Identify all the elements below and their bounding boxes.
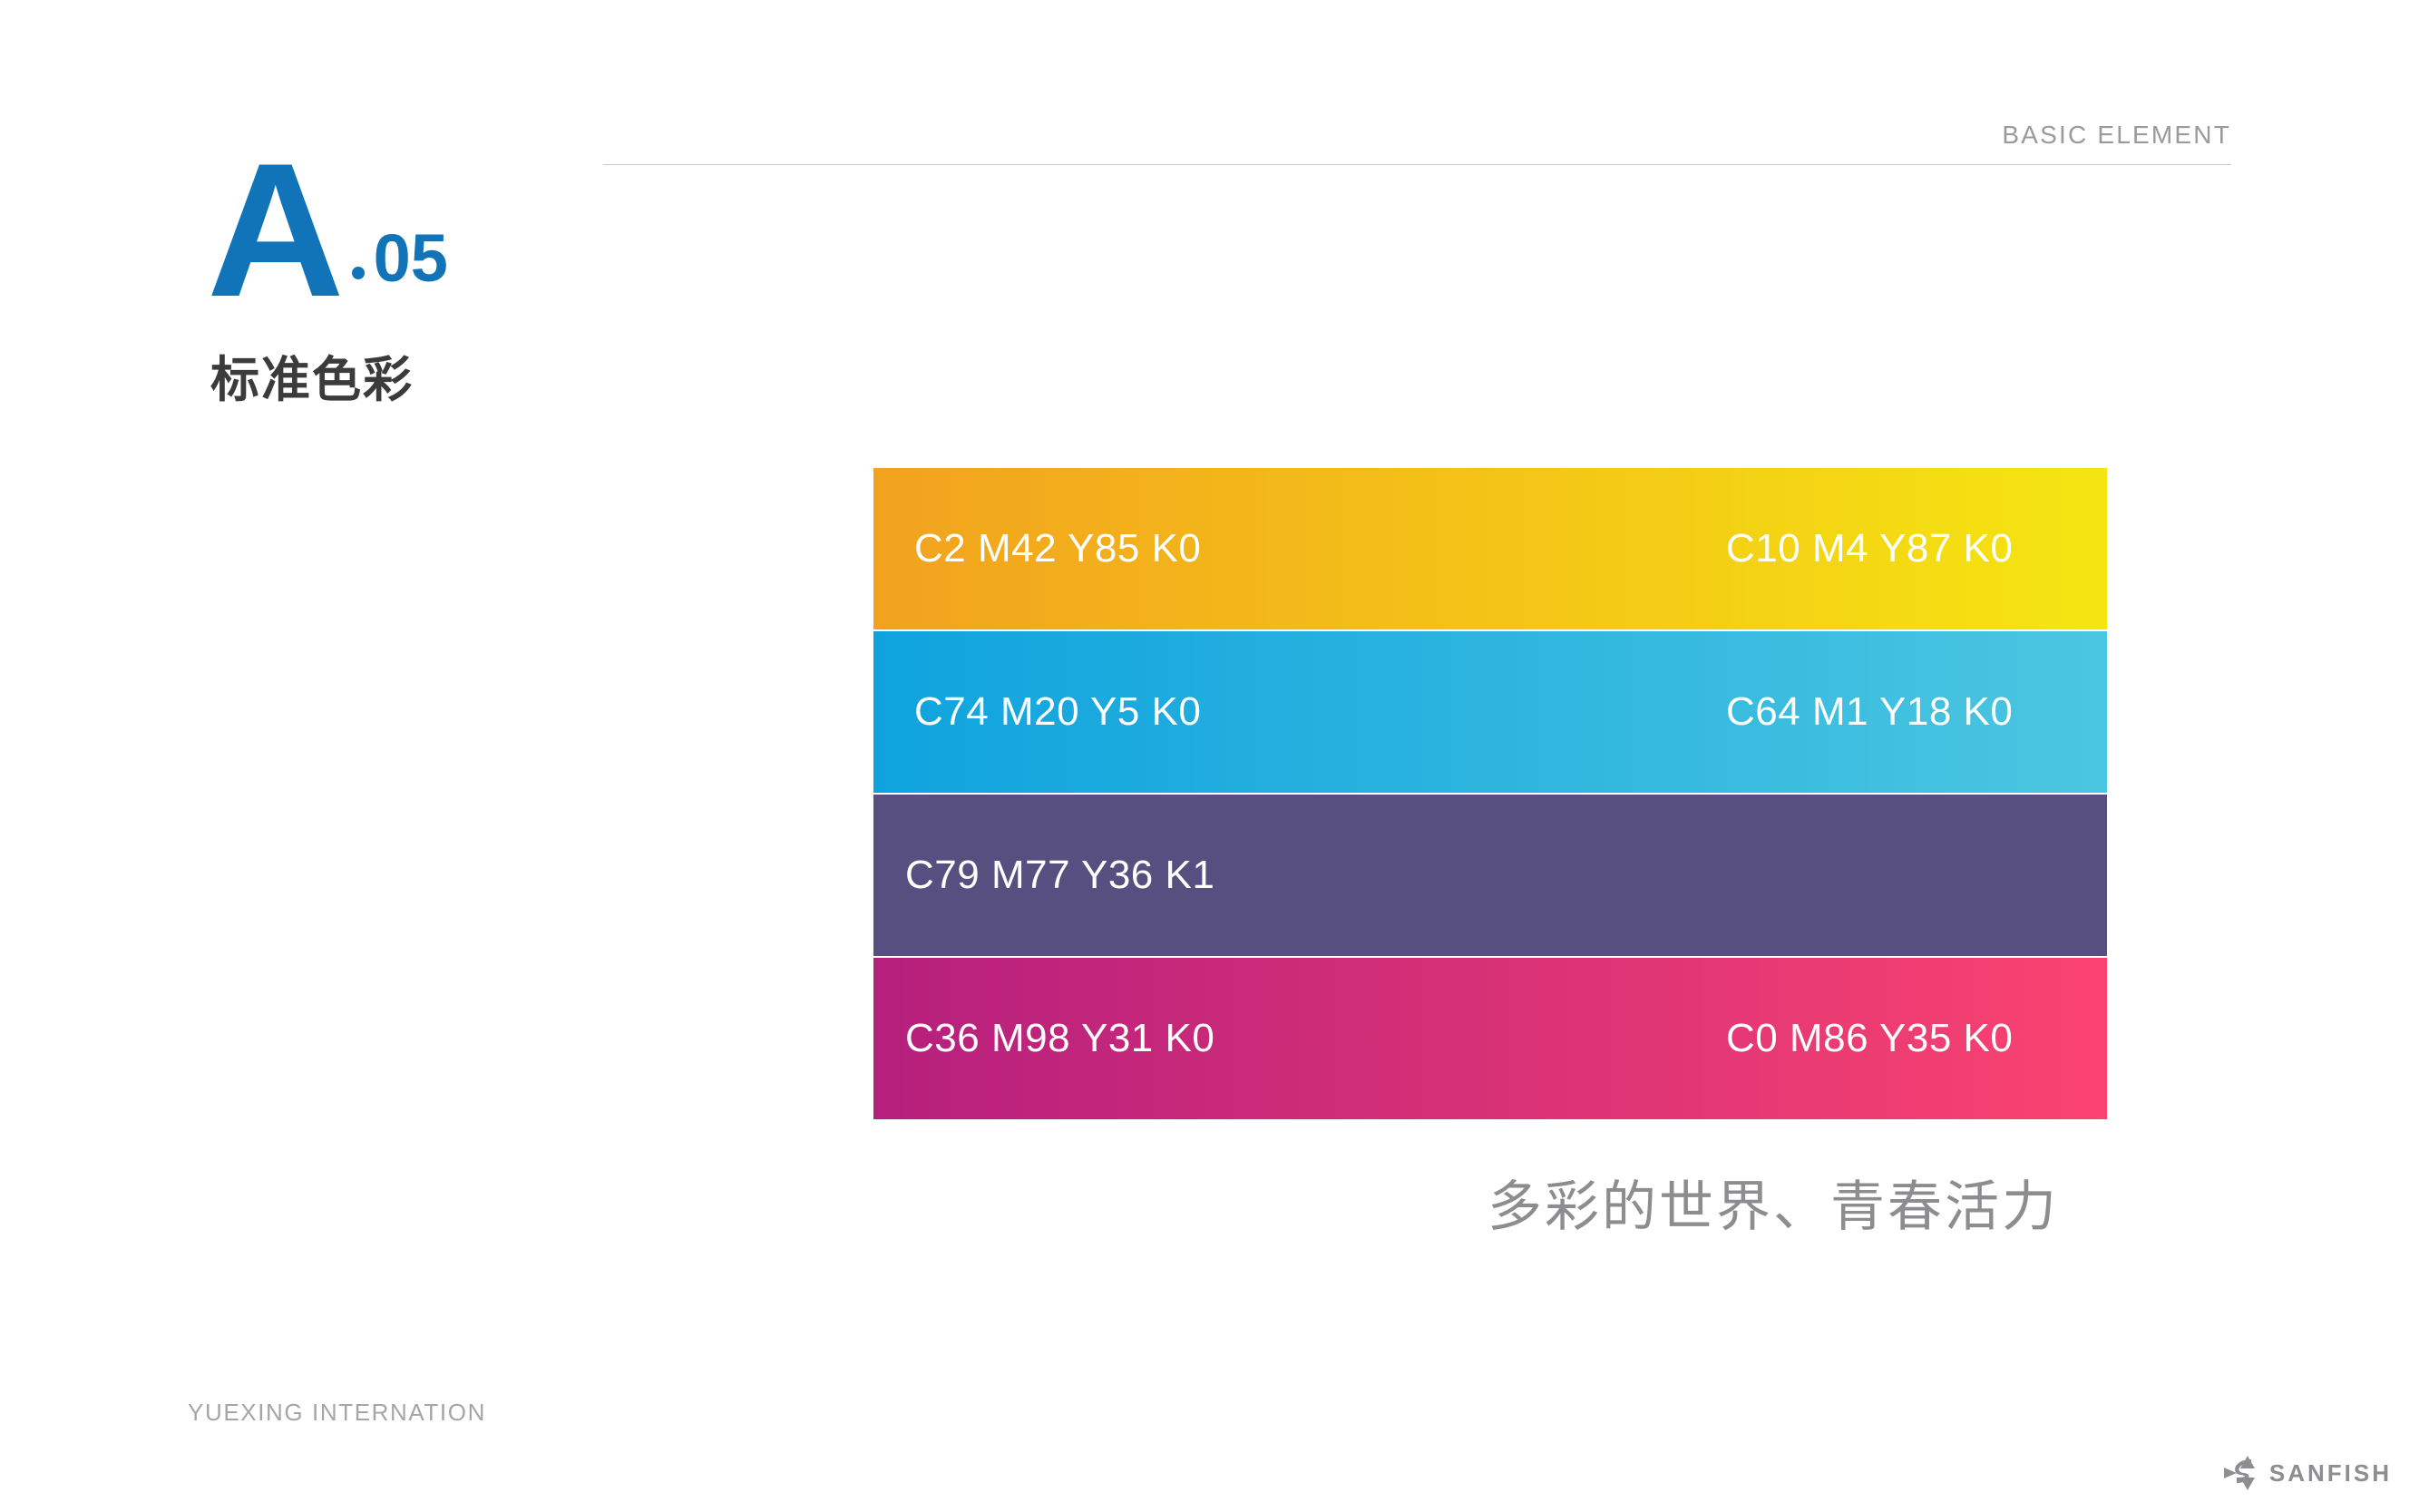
section-number: 05 [374,225,448,292]
swatch-1-left-label: C2 M42 Y85 K0 [914,526,1201,571]
swatch-row-4: C36 M98 Y31 K0 C0 M86 Y35 K0 [873,958,2107,1119]
swatch-1-right-label: C10 M4 Y87 K0 [1726,526,2013,571]
fish-logo-icon [2224,1454,2266,1492]
swatch-row-3: C79 M77 Y36 K1 [873,795,2107,956]
color-swatch-stack: C2 M42 Y85 K0 C10 M4 Y87 K0 C74 M20 Y5 K… [873,468,2107,1121]
palette-tagline: 多彩的世界、青春活力 [1487,1163,2059,1242]
swatch-2-right-label: C64 M1 Y18 K0 [1726,689,2013,735]
swatch-4-left-label: C36 M98 Y31 K0 [905,1016,1214,1061]
swatch-2-left-label: C74 M20 Y5 K0 [914,689,1201,735]
swatch-row-2: C74 M20 Y5 K0 C64 M1 Y18 K0 [873,631,2107,793]
swatch-3-left-label: C79 M77 Y36 K1 [905,853,1214,898]
section-marker: A 05 标准色彩 [207,127,597,399]
swatch-row-1: C2 M42 Y85 K0 C10 M4 Y87 K0 [873,468,2107,629]
logo-wordmark: SANFISH [2269,1459,2392,1488]
section-title-cn: 标准色彩 [210,339,597,411]
section-marker-row: A 05 [207,127,597,308]
separator-dot-icon [352,267,365,279]
section-letter: A [207,152,341,308]
sanfish-logo: SANFISH [2224,1454,2392,1492]
section-category-label: BASIC ELEMENT [2002,121,2231,150]
footer-brand-name: YUEXING INTERNATION [188,1399,486,1427]
swatch-4-right-label: C0 M86 Y35 K0 [1726,1016,2013,1061]
header-divider [603,164,2231,165]
